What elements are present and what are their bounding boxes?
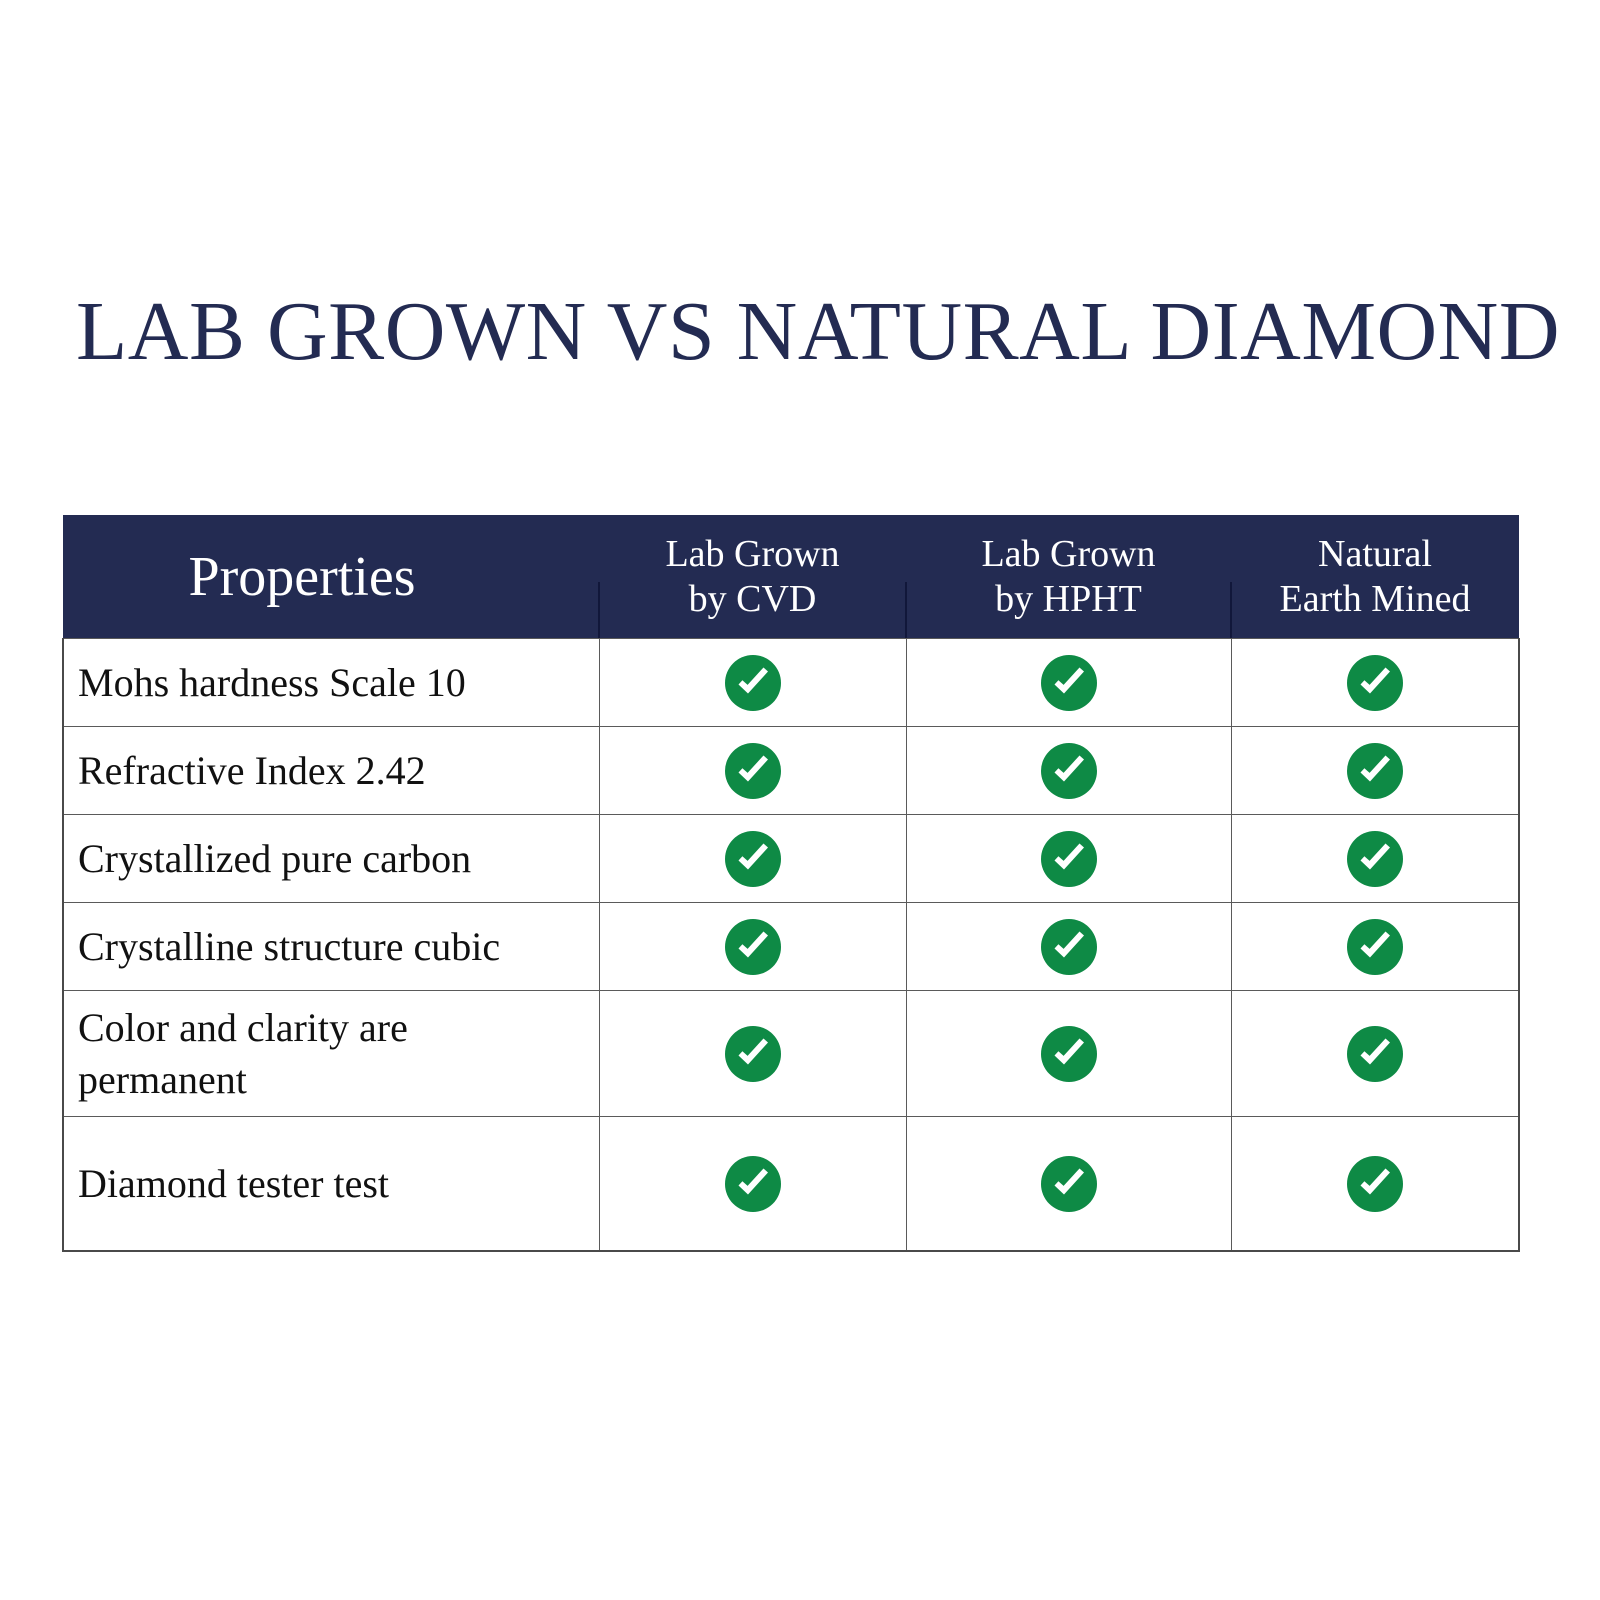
cell-natural	[1231, 815, 1519, 903]
cell-cvd	[599, 903, 906, 991]
check-circle-icon	[725, 1156, 781, 1212]
column-header-hpht-line1: Lab Grown	[906, 532, 1231, 577]
cell-cvd	[599, 727, 906, 815]
column-header-properties: Properties	[63, 515, 599, 639]
page-title: LAB GROWN VS NATURAL DIAMOND	[76, 288, 1536, 376]
table-row: Color and clarity are permanent	[63, 991, 1519, 1117]
check-circle-icon	[725, 919, 781, 975]
check-circle-icon	[1347, 743, 1403, 799]
cell-hpht	[906, 991, 1231, 1117]
property-label: Refractive Index 2.42	[63, 727, 599, 815]
table-row: Crystallized pure carbon	[63, 815, 1519, 903]
cell-natural	[1231, 727, 1519, 815]
property-label: Crystallized pure carbon	[63, 815, 599, 903]
check-circle-icon	[1041, 655, 1097, 711]
property-label: Diamond tester test	[63, 1117, 599, 1252]
check-circle-icon	[725, 1026, 781, 1082]
property-label: Crystalline structure cubic	[63, 903, 599, 991]
cell-natural	[1231, 991, 1519, 1117]
check-circle-icon	[1041, 743, 1097, 799]
table-body: Mohs hardness Scale 10	[63, 639, 1519, 1252]
check-circle-icon	[725, 831, 781, 887]
check-circle-icon	[1347, 655, 1403, 711]
table-row: Refractive Index 2.42	[63, 727, 1519, 815]
column-header-lab-grown-cvd: Lab Grown by CVD	[599, 515, 906, 639]
cell-hpht	[906, 903, 1231, 991]
check-circle-icon	[1347, 1156, 1403, 1212]
cell-hpht	[906, 1117, 1231, 1252]
cell-natural	[1231, 1117, 1519, 1252]
property-label: Color and clarity are permanent	[63, 991, 599, 1117]
cell-hpht	[906, 815, 1231, 903]
cell-hpht	[906, 639, 1231, 727]
check-circle-icon	[1041, 1156, 1097, 1212]
check-circle-icon	[1347, 919, 1403, 975]
column-header-natural-earth-mined: Natural Earth Mined	[1231, 515, 1519, 639]
check-circle-icon	[1347, 1026, 1403, 1082]
cell-cvd	[599, 1117, 906, 1252]
check-circle-icon	[725, 655, 781, 711]
lab-grown-vs-natural-comparison-table: Properties Lab Grown by CVD Lab Grown by…	[62, 515, 1520, 1252]
cell-cvd	[599, 815, 906, 903]
property-label: Mohs hardness Scale 10	[63, 639, 599, 727]
table-header-row: Properties Lab Grown by CVD Lab Grown by…	[63, 515, 1519, 639]
table-header: Properties Lab Grown by CVD Lab Grown by…	[63, 515, 1519, 639]
cell-cvd	[599, 991, 906, 1117]
cell-cvd	[599, 639, 906, 727]
table-row: Crystalline structure cubic	[63, 903, 1519, 991]
check-circle-icon	[725, 743, 781, 799]
column-header-natural-line2: Earth Mined	[1231, 577, 1519, 622]
cell-hpht	[906, 727, 1231, 815]
check-circle-icon	[1347, 831, 1403, 887]
column-header-natural-line1: Natural	[1231, 532, 1519, 577]
column-header-hpht-line2: by HPHT	[906, 577, 1231, 622]
cell-natural	[1231, 639, 1519, 727]
column-header-cvd-line2: by CVD	[599, 577, 906, 622]
cell-natural	[1231, 903, 1519, 991]
table-row: Mohs hardness Scale 10	[63, 639, 1519, 727]
check-circle-icon	[1041, 919, 1097, 975]
column-header-cvd-line1: Lab Grown	[599, 532, 906, 577]
check-circle-icon	[1041, 831, 1097, 887]
check-circle-icon	[1041, 1026, 1097, 1082]
table-row: Diamond tester test	[63, 1117, 1519, 1252]
column-header-lab-grown-hpht: Lab Grown by HPHT	[906, 515, 1231, 639]
